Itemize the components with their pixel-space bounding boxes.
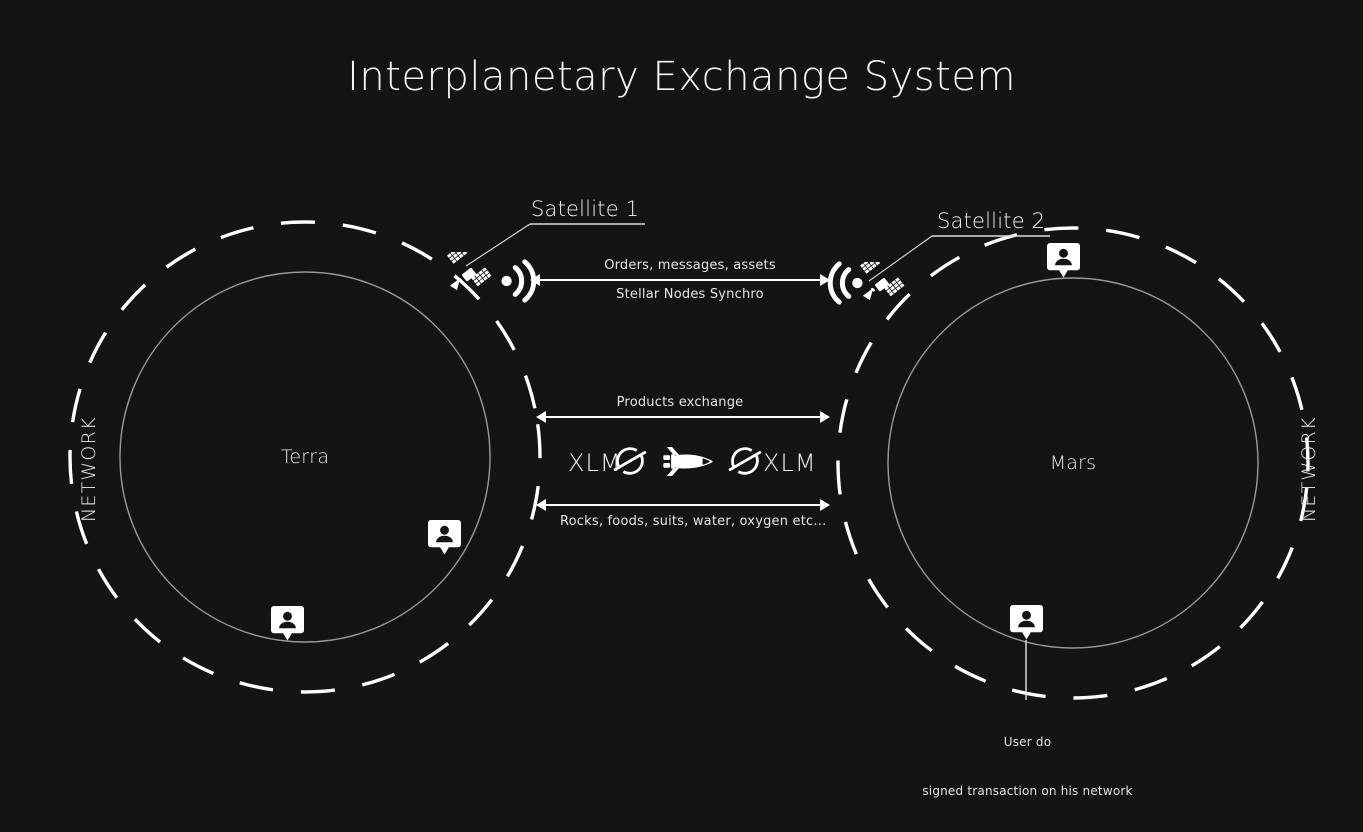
- satellite-icon: [446, 244, 492, 290]
- xlm-label-left: XLM: [568, 449, 622, 477]
- data-flow-label-above: Orders, messages, assets: [584, 258, 796, 274]
- signal-broadcast-icon: [830, 264, 862, 302]
- network-label-right: NETWORK: [1298, 416, 1322, 522]
- user-note-line1: User do: [905, 734, 1150, 750]
- products-flow-label: Products exchange: [574, 395, 786, 411]
- user-pin-icon: [428, 520, 461, 554]
- signal-broadcast-icon: [501, 262, 533, 300]
- user-note-line2: signed transaction on his network: [905, 783, 1150, 799]
- page-title: Interplanetary Exchange System: [0, 52, 1363, 102]
- goods-flow-label: Rocks, foods, suits, water, oxygen etc…: [560, 514, 800, 530]
- space-shuttle-icon: [663, 447, 712, 476]
- stellar-logo-icon: [730, 449, 760, 474]
- planet-label-terra: Terra: [205, 446, 405, 470]
- network-label-left: NETWORK: [78, 416, 102, 522]
- satellite-icon: [859, 254, 905, 300]
- xlm-label-right: XLM: [763, 449, 817, 477]
- satellite-2-label: Satellite 2: [937, 208, 1045, 234]
- satellite-1-label: Satellite 1: [531, 196, 639, 222]
- user-pin-icon: [1047, 243, 1080, 277]
- diagram-canvas: Interplanetary Exchange System Terra Mar…: [0, 0, 1363, 812]
- planet-label-mars: Mars: [973, 452, 1173, 476]
- user-note: User do signed transaction on his networ…: [905, 702, 1150, 832]
- user-pin-icon: [1010, 605, 1043, 639]
- data-flow-label-below: Stellar Nodes Synchro: [584, 287, 796, 303]
- user-pin-icon: [271, 606, 304, 640]
